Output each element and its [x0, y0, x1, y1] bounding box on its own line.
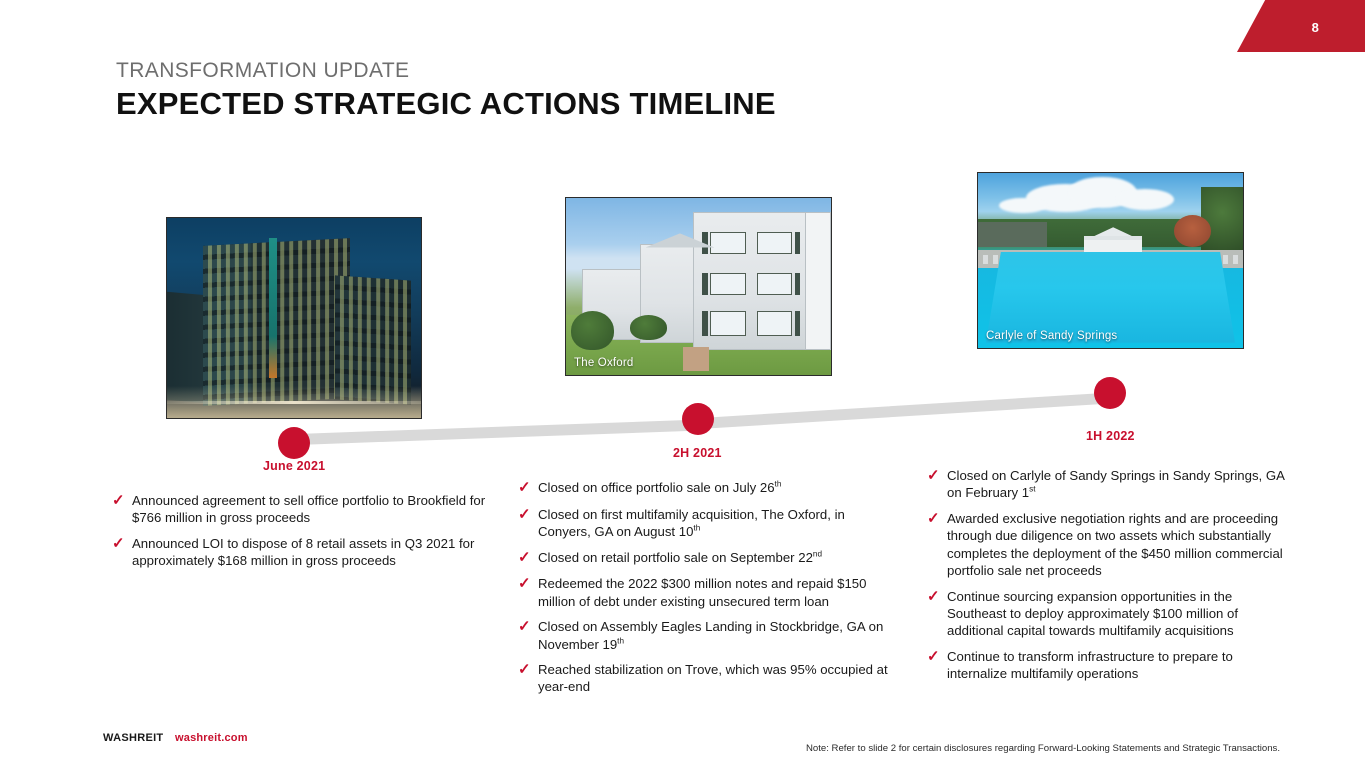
list-item: ✓ Closed on office portfolio sale on Jul… [518, 479, 892, 498]
photo-carlyle-of-sandy-springs: Carlyle of Sandy Springs [977, 172, 1244, 349]
list-item: ✓ Closed on retail portfolio sale on Sep… [518, 549, 892, 568]
street-light-trail [167, 401, 421, 404]
window [710, 232, 745, 254]
check-icon: ✓ [927, 510, 947, 529]
check-icon: ✓ [518, 549, 538, 568]
timeline-marker-2h-2021[interactable] [682, 403, 714, 435]
bullet-column-june-2021: ✓ Announced agreement to sell office por… [112, 492, 492, 578]
section-eyebrow: TRANSFORMATION UPDATE [116, 59, 409, 83]
list-item: ✓ Closed on Assembly Eagles Landing in S… [518, 618, 892, 653]
bullet-text: Awarded exclusive negotiation rights and… [947, 510, 1287, 580]
list-item: ✓ Closed on Carlyle of Sandy Springs in … [927, 467, 1287, 502]
list-item: ✓ Announced LOI to dispose of 8 retail a… [112, 535, 492, 570]
bullet-text: Closed on Carlyle of Sandy Springs in Sa… [947, 467, 1287, 502]
list-item: ✓ Redeemed the 2022 $300 million notes a… [518, 575, 892, 610]
check-icon: ✓ [927, 588, 947, 607]
walkway [683, 347, 710, 372]
autumn-tree [1174, 215, 1211, 247]
shutter [795, 232, 800, 254]
bullet-text: Closed on office portfolio sale on July … [538, 479, 892, 496]
bullet-text: Continue sourcing expansion opportunitie… [947, 588, 1287, 640]
footer-disclosure-note: Note: Refer to slide 2 for certain discl… [806, 743, 1280, 754]
window [710, 273, 745, 295]
window [757, 311, 792, 335]
bullet-text: Announced LOI to dispose of 8 retail ass… [132, 535, 492, 570]
bullet-text: Continue to transform infrastructure to … [947, 648, 1287, 683]
shutter [795, 311, 800, 335]
photo-caption: Carlyle of Sandy Springs [986, 330, 1117, 342]
list-item: ✓ Closed on first multifamily acquisitio… [518, 506, 892, 541]
check-icon: ✓ [927, 467, 947, 486]
photo-office-building [166, 217, 422, 419]
page-title: EXPECTED STRATEGIC ACTIONS TIMELINE [116, 86, 776, 122]
list-item: ✓ Continue sourcing expansion opportunit… [927, 588, 1287, 640]
bullet-text: Redeemed the 2022 $300 million notes and… [538, 575, 892, 610]
shrub [571, 311, 613, 350]
check-icon: ✓ [518, 479, 538, 498]
apartment-building-main [693, 212, 831, 350]
cloud [999, 198, 1047, 214]
timeline-marker-june-2021[interactable] [278, 427, 310, 459]
timeline-label-2h-2021: 2H 2021 [673, 446, 722, 460]
list-item: ✓ Awarded exclusive negotiation rights a… [927, 510, 1287, 580]
shutter [702, 311, 707, 335]
balcony-column [805, 213, 830, 349]
bullet-text: Reached stabilization on Trove, which wa… [538, 661, 892, 696]
slide-number: 8 [1312, 20, 1319, 35]
check-icon: ✓ [927, 648, 947, 667]
footer-url[interactable]: washreit.com [175, 732, 248, 744]
bullet-column-1h-2022: ✓ Closed on Carlyle of Sandy Springs in … [927, 467, 1287, 691]
photo-the-oxford: The Oxford [565, 197, 832, 376]
bullet-column-2h-2021: ✓ Closed on office portfolio sale on Jul… [518, 479, 892, 704]
bullet-text: Announced agreement to sell office portf… [132, 492, 492, 527]
list-item: ✓ Reached stabilization on Trove, which … [518, 661, 892, 696]
shrub [630, 315, 667, 340]
list-item: ✓ Announced agreement to sell office por… [112, 492, 492, 527]
check-icon: ✓ [112, 535, 132, 554]
timeline-marker-1h-2022[interactable] [1094, 377, 1126, 409]
check-icon: ✓ [518, 618, 538, 637]
shutter [702, 273, 707, 295]
timeline-bar-left [296, 419, 706, 445]
side-building [978, 222, 1047, 247]
check-icon: ✓ [518, 661, 538, 680]
shutter [795, 273, 800, 295]
check-icon: ✓ [518, 575, 538, 594]
timeline-label-june-2021: June 2021 [263, 459, 325, 473]
timeline-bar-right [700, 392, 1118, 429]
bullet-text: Closed on Assembly Eagles Landing in Sto… [538, 618, 892, 653]
corner-shape [1237, 0, 1365, 52]
bullet-text: Closed on retail portfolio sale on Septe… [538, 549, 892, 566]
photo-caption: The Oxford [574, 357, 634, 369]
bullet-text: Closed on first multifamily acquisition,… [538, 506, 892, 541]
timeline-label-1h-2022: 1H 2022 [1086, 429, 1135, 443]
window [757, 273, 792, 295]
list-item: ✓ Continue to transform infrastructure t… [927, 648, 1287, 683]
facade-accent-stripe [269, 238, 278, 378]
window [710, 311, 745, 335]
footer-brand: WASHREIT [103, 732, 163, 744]
cloud [1116, 189, 1174, 210]
check-icon: ✓ [518, 506, 538, 525]
window [757, 232, 792, 254]
slide-number-badge: 8 [1237, 0, 1365, 52]
slide-canvas: 8 TRANSFORMATION UPDATE EXPECTED STRATEG… [0, 0, 1365, 768]
check-icon: ✓ [112, 492, 132, 511]
